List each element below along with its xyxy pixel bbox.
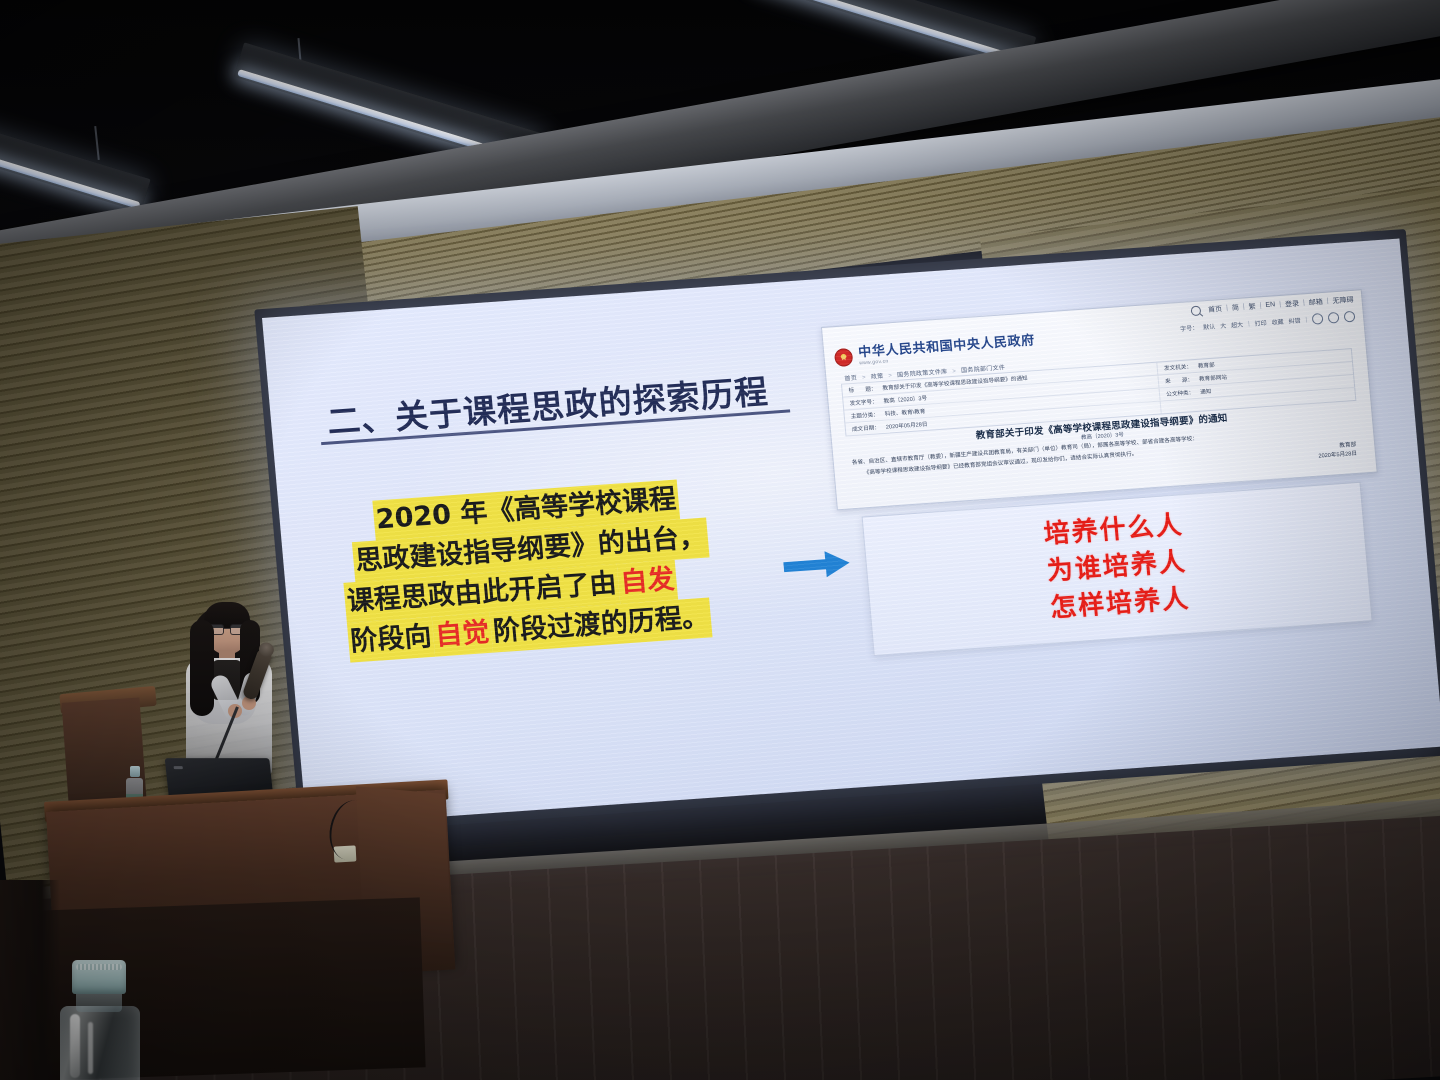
breadcrumb-item-policy[interactable]: 政策 [871, 374, 884, 381]
print-button[interactable]: 打印 [1254, 318, 1267, 328]
share-icon-3[interactable] [1344, 311, 1356, 323]
font-size-large[interactable]: 大 [1220, 321, 1227, 330]
topnav-separator: | [1303, 299, 1305, 306]
toolbar-separator: | [1305, 317, 1307, 323]
signature-date: 2020年5月28日 [1318, 450, 1357, 462]
foreground-water-bottle [58, 960, 142, 1080]
topnav-separator: | [1243, 303, 1245, 310]
meta-value-issuer: 教育部 [1198, 361, 1215, 370]
breadcrumb-separator: > [952, 369, 956, 375]
topnav-separator: | [1279, 301, 1281, 308]
report-error-button[interactable]: 纠错 [1288, 316, 1301, 326]
font-size-default[interactable]: 默认 [1203, 322, 1216, 332]
meta-value-source: 教育部网站 [1199, 373, 1228, 383]
meta-label-doctype: 公文种类： [1166, 388, 1201, 398]
meta-value-docnumber: 教高〔2020〕3号 [883, 394, 927, 405]
topnav-item-simplified[interactable]: 简 [1231, 302, 1239, 312]
laptop-logo [174, 766, 183, 769]
slogan-panel: 培养什么人 为谁培养人 怎样培养人 [862, 482, 1373, 656]
search-icon[interactable] [1191, 305, 1202, 316]
meta-label-source: 来 源： [1165, 375, 1200, 385]
screen-surface: 二、关于课程思政的探索历程 2020 年《高等学校课程 思政建设指导纲要》的出台… [262, 238, 1440, 826]
gov-document-screenshot: 首页 | 简 | 繁 | EN | 登录 | 邮箱 | 无障碍 [821, 289, 1378, 510]
meta-value-date: 2020年05月28日 [886, 420, 928, 431]
slide-line3-emphasis: 自发 [617, 560, 678, 604]
foreground-bottle-cap [72, 960, 126, 994]
topnav-item-accessibility[interactable]: 无障碍 [1332, 294, 1354, 305]
topnav-item-mail[interactable]: 邮箱 [1308, 296, 1323, 307]
lecture-hall-photo: 二、关于课程思政的探索历程 2020 年《高等学校课程 思政建设指导纲要》的出台… [0, 0, 1440, 1080]
topnav-item-login[interactable]: 登录 [1285, 298, 1300, 309]
gov-site-identity: 中华人民共和国中央人民政府 www.gov.cn [858, 334, 1036, 366]
meta-label-issuer: 发文机关： [1164, 362, 1199, 372]
slide-line4-emphasis: 自觉 [432, 613, 493, 657]
topnav-item-home[interactable]: 首页 [1208, 304, 1223, 315]
national-emblem-icon [834, 348, 854, 367]
topnav-separator: | [1326, 298, 1328, 305]
foreground-shadow [0, 880, 60, 1080]
blue-right-arrow-icon [783, 550, 851, 581]
share-icon-1[interactable] [1312, 313, 1324, 325]
breadcrumb-separator: > [888, 373, 892, 379]
font-size-label: 字号： [1180, 323, 1199, 333]
bottle-cap [130, 766, 140, 777]
foreground-bottle-highlight-2 [88, 1022, 93, 1074]
toolbar-separator: | [1248, 321, 1250, 327]
slide-line4-text-a: 阶段向 [347, 617, 435, 663]
meta-label-date: 成文日期： [852, 423, 887, 433]
breadcrumb-item-home[interactable]: 首页 [844, 376, 857, 383]
projection-screen: 二、关于课程思政的探索历程 2020 年《高等学校课程 思政建设指导纲要》的出台… [262, 238, 1440, 826]
slide-text-block: 2020 年《高等学校课程 思政建设指导纲要》的出台， 课程思政由此开启了由自发… [337, 476, 820, 668]
meta-value-doctype: 通知 [1200, 387, 1212, 396]
breadcrumb-separator: > [862, 375, 866, 381]
topnav-item-english[interactable]: EN [1265, 301, 1275, 309]
topnav-separator: | [1259, 302, 1261, 309]
topnav-item-traditional[interactable]: 繁 [1248, 301, 1256, 311]
foreground-bottle-highlight-1 [70, 1014, 80, 1078]
font-size-xlarge[interactable]: 超大 [1231, 320, 1244, 330]
presenter [178, 600, 308, 775]
meta-label-title: 标 题： [848, 384, 883, 394]
topnav-separator: | [1226, 305, 1228, 312]
meta-label-category: 主题分类： [850, 410, 885, 420]
meta-value-category: 科技、教育\教育 [884, 407, 925, 418]
document-signature: 教育部 2020年5月28日 [1317, 441, 1357, 461]
favorite-button[interactable]: 收藏 [1271, 317, 1284, 327]
presenter-hair-left [190, 620, 214, 716]
slide-title: 二、关于课程思政的探索历程 [325, 365, 770, 444]
share-icon-2[interactable] [1328, 312, 1340, 324]
meta-label-docnumber: 发文字号： [849, 397, 884, 407]
